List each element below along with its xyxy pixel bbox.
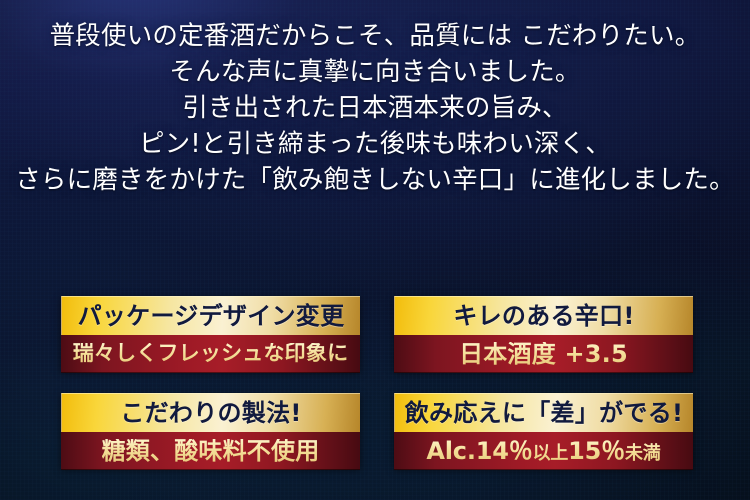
- copy-line-4: ピン!と引き締まった後味も味わい深く、: [0, 126, 750, 162]
- badge-sharp-dry-title: キレのある辛口!: [453, 304, 634, 328]
- copy-line-3: 引き出された日本酒本来の旨み、: [0, 90, 750, 126]
- alc-value-main: Alc.14％: [426, 437, 532, 465]
- badge-package-design-detail: 瑞々しくフレッシュな印象に: [73, 343, 349, 364]
- copy-line-1: 普段使いの定番酒だからこそ、品質には こだわりたい。: [0, 18, 750, 54]
- badge-alcohol-content-header: 飲み応えに「差」がでる!: [394, 393, 693, 432]
- badge-sharp-dry: キレのある辛口! 日本酒度 +3.5: [394, 296, 693, 371]
- badge-sharp-dry-header: キレのある辛口!: [394, 296, 693, 335]
- promo-banner: 普段使いの定番酒だからこそ、品質には こだわりたい。 そんな声に真摯に向き合いま…: [0, 0, 750, 500]
- badge-package-design-footer: 瑞々しくフレッシュな印象に: [61, 335, 360, 373]
- badge-package-design-header: パッケージデザイン変更: [61, 296, 360, 335]
- badge-brewing-method-title: こだわりの製法!: [120, 401, 301, 425]
- badge-alcohol-content: 飲み応えに「差」がでる! Alc.14％以上15％未満: [394, 393, 693, 468]
- badge-sharp-dry-footer: 日本酒度 +3.5: [394, 335, 693, 373]
- copy-line-5: さらに磨きをかけた「飲み飽きしない辛口」に進化しました。: [0, 162, 750, 198]
- badge-sharp-dry-detail: 日本酒度 +3.5: [459, 342, 628, 366]
- feature-badge-grid: パッケージデザイン変更 瑞々しくフレッシュな印象に キレのある辛口! 日本酒度 …: [61, 296, 693, 468]
- badge-alcohol-content-detail: Alc.14％以上15％未満: [426, 439, 660, 463]
- alc-qualifier-max: 未満: [625, 443, 661, 464]
- badge-brewing-method: こだわりの製法! 糖類、酸味料不使用: [61, 393, 360, 468]
- badge-package-design-title: パッケージデザイン変更: [78, 304, 345, 328]
- badge-package-design: パッケージデザイン変更 瑞々しくフレッシュな印象に: [61, 296, 360, 371]
- copy-line-2: そんな声に真摯に向き合いました。: [0, 54, 750, 90]
- badge-brewing-method-footer: 糖類、酸味料不使用: [61, 432, 360, 470]
- alc-value-max: 15％: [568, 437, 625, 465]
- alc-qualifier-min: 以上: [533, 443, 569, 464]
- badge-alcohol-content-footer: Alc.14％以上15％未満: [394, 432, 693, 470]
- badge-brewing-method-detail: 糖類、酸味料不使用: [102, 439, 320, 463]
- badge-brewing-method-header: こだわりの製法!: [61, 393, 360, 432]
- badge-alcohol-content-title: 飲み応えに「差」がでる!: [405, 401, 684, 425]
- headline-copy-block: 普段使いの定番酒だからこそ、品質には こだわりたい。 そんな声に真摯に向き合いま…: [0, 18, 750, 198]
